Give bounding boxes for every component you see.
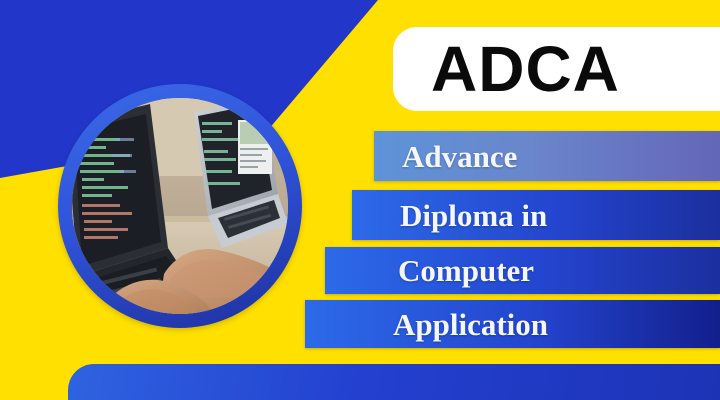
laptop-coding-photo	[72, 98, 288, 314]
page-title: ADCA	[431, 37, 620, 101]
text-bar-label: Computer	[398, 255, 534, 286]
photo-ring-border	[58, 84, 302, 328]
course-title-plate: ADCA	[393, 27, 720, 111]
background-bottom-blue-bar	[68, 364, 720, 400]
text-bar-application: Application	[305, 300, 720, 348]
text-bar-label: Advance	[402, 141, 517, 172]
laptop-coding-photo-illustration	[72, 98, 288, 314]
adca-course-banner: ADCA Advance Diploma in Computer Applica…	[0, 0, 720, 400]
text-bar-diploma-in: Diploma in	[352, 190, 720, 240]
text-bar-computer: Computer	[325, 247, 720, 294]
text-bar-advance: Advance	[374, 131, 720, 181]
text-bar-label: Diploma in	[400, 200, 547, 231]
text-bar-label: Application	[393, 309, 548, 340]
